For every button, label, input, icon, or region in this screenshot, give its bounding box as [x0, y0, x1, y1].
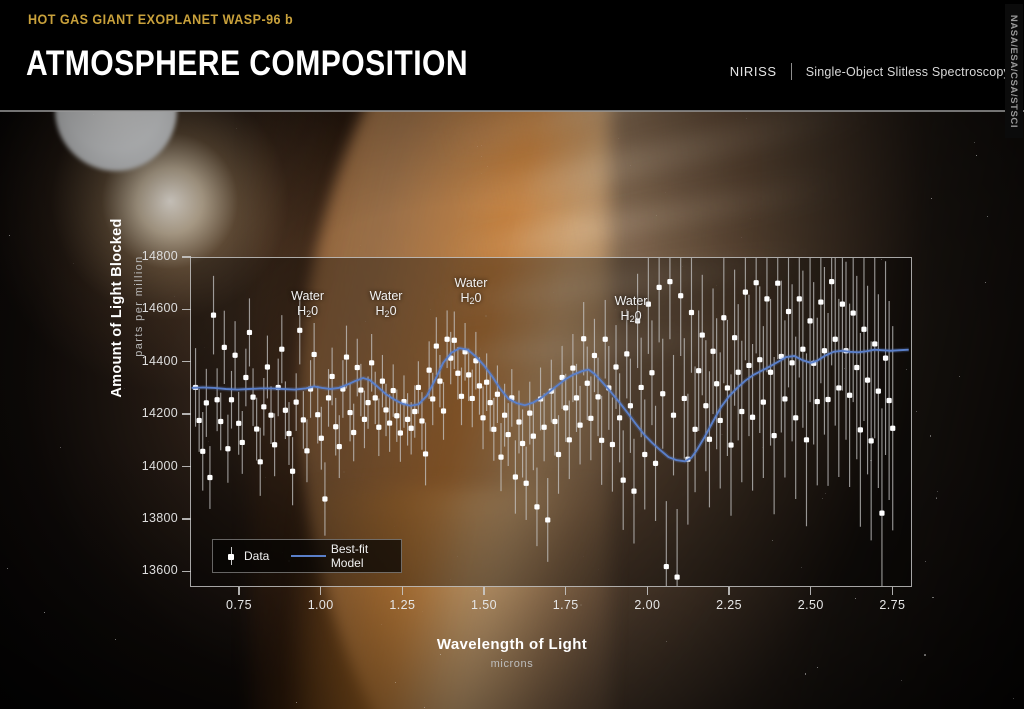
data-point — [470, 396, 475, 401]
data-point — [545, 517, 550, 522]
y-tick-mark — [182, 413, 191, 414]
data-point — [883, 355, 888, 360]
data-point — [441, 408, 446, 413]
data-point — [595, 394, 600, 399]
data-point — [574, 395, 579, 400]
data-point — [250, 395, 255, 400]
annotation-water: WaterH20 — [426, 276, 516, 309]
data-point — [782, 396, 787, 401]
data-point — [232, 353, 237, 358]
data-point — [312, 352, 317, 357]
data-point — [261, 404, 266, 409]
data-point — [477, 383, 482, 388]
annotation-formula: H20 — [426, 291, 516, 309]
data-point — [610, 442, 615, 447]
y-tick-label: 14000 — [132, 459, 178, 473]
data-point — [488, 400, 493, 405]
x-tick-label: 0.75 — [214, 598, 264, 612]
data-point — [355, 365, 360, 370]
data-point — [204, 400, 209, 405]
data-point — [772, 433, 777, 438]
data-point — [707, 437, 712, 442]
data-point — [790, 360, 795, 365]
data-point — [416, 385, 421, 390]
data-point — [667, 279, 672, 284]
data-point — [678, 293, 683, 298]
data-point — [337, 444, 342, 449]
data-point — [243, 375, 248, 380]
data-point — [797, 296, 802, 301]
data-point — [703, 403, 708, 408]
data-point — [498, 454, 503, 459]
x-tick-label: 1.50 — [459, 598, 509, 612]
data-point — [642, 452, 647, 457]
data-point — [358, 387, 363, 392]
header-bar: HOT GAS GIANT EXOPLANET WASP-96 b ATMOSP… — [0, 0, 1024, 111]
data-point — [671, 413, 676, 418]
x-tick-mark — [810, 587, 811, 595]
data-point — [254, 426, 259, 431]
data-point — [710, 349, 715, 354]
data-point — [297, 328, 302, 333]
chart-legend[interactable]: Data Best-fit Model — [212, 539, 402, 573]
data-point-icon — [225, 547, 239, 565]
data-point — [398, 430, 403, 435]
data-point — [344, 354, 349, 359]
data-point — [430, 396, 435, 401]
data-point — [570, 365, 575, 370]
data-point — [854, 365, 859, 370]
annotation-label: Water — [586, 294, 676, 309]
x-tick-label: 2.25 — [704, 598, 754, 612]
x-tick-mark — [892, 587, 893, 595]
data-point — [754, 280, 759, 285]
data-point — [775, 281, 780, 286]
page-title: ATMOSPHERE COMPOSITION — [26, 46, 468, 81]
y-tick-mark — [182, 256, 191, 257]
data-point — [258, 459, 263, 464]
data-point — [800, 347, 805, 352]
annotation-label: Water — [263, 289, 353, 304]
x-tick-label: 1.25 — [377, 598, 427, 612]
data-point — [437, 379, 442, 384]
data-point — [480, 415, 485, 420]
data-point — [682, 396, 687, 401]
data-point — [211, 313, 216, 318]
data-point — [617, 415, 622, 420]
data-point — [631, 489, 636, 494]
data-point — [268, 413, 273, 418]
data-point — [675, 574, 680, 579]
data-point — [315, 412, 320, 417]
data-point — [218, 419, 223, 424]
data-point — [265, 364, 270, 369]
divider — [791, 63, 792, 80]
data-point — [552, 419, 557, 424]
infographic-root: Amount of Light Blocked parts per millio… — [0, 0, 1024, 709]
data-point — [240, 440, 245, 445]
data-point — [567, 437, 572, 442]
data-point — [764, 296, 769, 301]
data-point — [657, 285, 662, 290]
data-point — [207, 475, 212, 480]
x-tick-mark — [402, 587, 403, 595]
y-tick-label: 14800 — [132, 249, 178, 263]
instrument-info: NIRISS Single-Object Slitless Spectrosco… — [730, 63, 1010, 80]
data-point — [851, 310, 856, 315]
data-point — [757, 357, 762, 362]
data-point — [531, 434, 536, 439]
x-axis-units: microns — [0, 658, 1024, 670]
annotation-water: WaterH20 — [263, 289, 353, 322]
data-point — [649, 370, 654, 375]
data-point — [865, 377, 870, 382]
x-axis-title: Wavelength of Light — [0, 636, 1024, 653]
data-point — [387, 420, 392, 425]
data-point — [225, 446, 230, 451]
data-point — [613, 364, 618, 369]
instrument-name: NIRISS — [730, 64, 777, 79]
legend-label-model: Best-fit Model — [331, 542, 401, 570]
header-rule — [0, 110, 1024, 112]
data-point — [825, 397, 830, 402]
data-point — [869, 438, 874, 443]
x-tick-mark — [238, 587, 239, 595]
data-point — [534, 504, 539, 509]
data-point — [455, 371, 460, 376]
data-point — [750, 415, 755, 420]
data-point — [858, 427, 863, 432]
annotation-formula: H20 — [586, 309, 676, 327]
data-point — [229, 397, 234, 402]
data-point — [689, 310, 694, 315]
data-point — [423, 451, 428, 456]
data-point — [815, 399, 820, 404]
y-axis-title: Amount of Light Blocked — [109, 183, 125, 433]
data-point — [373, 395, 378, 400]
data-point — [362, 417, 367, 422]
data-point — [513, 474, 518, 479]
data-point — [664, 564, 669, 569]
data-point — [732, 335, 737, 340]
data-point — [412, 409, 417, 414]
data-point — [714, 381, 719, 386]
data-point — [577, 423, 582, 428]
data-point — [542, 425, 547, 430]
data-point — [484, 380, 489, 385]
data-point — [847, 393, 852, 398]
legend-label-data: Data — [244, 549, 269, 563]
data-point — [804, 437, 809, 442]
data-point — [840, 302, 845, 307]
x-tick-label: 2.00 — [622, 598, 672, 612]
y-tick-mark — [182, 571, 191, 572]
x-tick-label: 1.75 — [541, 598, 591, 612]
data-point — [383, 407, 388, 412]
data-point — [495, 392, 500, 397]
data-point — [376, 425, 381, 430]
data-point — [599, 438, 604, 443]
data-point — [333, 424, 338, 429]
data-point — [286, 431, 291, 436]
data-point — [326, 395, 331, 400]
data-point — [301, 417, 306, 422]
y-tick-label: 13800 — [132, 511, 178, 525]
y-tick-label: 14400 — [132, 354, 178, 368]
data-point — [621, 478, 626, 483]
data-point — [272, 442, 277, 447]
data-point — [588, 416, 593, 421]
data-point — [639, 385, 644, 390]
data-point — [322, 496, 327, 501]
data-point — [419, 418, 424, 423]
data-point — [739, 409, 744, 414]
data-point — [405, 417, 410, 422]
data-point — [516, 419, 521, 424]
data-point — [290, 469, 295, 474]
data-point — [394, 413, 399, 418]
data-point — [725, 385, 730, 390]
data-point — [822, 348, 827, 353]
data-point — [197, 418, 202, 423]
data-point — [786, 309, 791, 314]
data-point — [829, 279, 834, 284]
data-point — [887, 398, 892, 403]
data-point — [247, 330, 252, 335]
data-point — [585, 381, 590, 386]
annotation-label: Water — [341, 289, 431, 304]
data-point — [556, 452, 561, 457]
data-point — [304, 448, 309, 453]
data-point — [236, 421, 241, 426]
legend-item-data: Data — [213, 547, 269, 565]
data-point — [491, 427, 496, 432]
data-point — [369, 360, 374, 365]
instrument-mode: Single-Object Slitless Spectroscopy — [806, 65, 1010, 79]
data-point — [653, 461, 658, 466]
data-point — [347, 410, 352, 415]
data-point — [279, 347, 284, 352]
data-point — [581, 336, 586, 341]
x-tick-mark — [320, 587, 321, 595]
data-point — [736, 370, 741, 375]
data-point — [818, 299, 823, 304]
x-tick-label: 2.75 — [867, 598, 917, 612]
model-line-icon — [291, 555, 325, 557]
data-point — [603, 337, 608, 342]
data-point — [761, 399, 766, 404]
annotation-formula: H20 — [263, 304, 353, 322]
best-fit-model-line — [192, 348, 909, 461]
data-point — [890, 426, 895, 431]
credit-text: NASA/ESA/CSA/STSCI — [1009, 14, 1020, 127]
x-tick-label: 1.00 — [296, 598, 346, 612]
annotation-formula: H20 — [341, 304, 431, 322]
x-tick-mark — [647, 587, 648, 595]
y-tick-mark — [182, 466, 191, 467]
x-tick-mark — [483, 587, 484, 595]
data-point — [660, 391, 665, 396]
data-point — [721, 315, 726, 320]
data-point — [624, 351, 629, 356]
y-tick-mark — [182, 309, 191, 310]
data-point — [351, 430, 356, 435]
data-point — [807, 318, 812, 323]
data-point — [434, 343, 439, 348]
data-point — [592, 353, 597, 358]
data-point — [391, 388, 396, 393]
data-point — [872, 341, 877, 346]
data-point — [700, 332, 705, 337]
data-point — [743, 289, 748, 294]
data-point — [718, 418, 723, 423]
data-point — [520, 441, 525, 446]
x-tick-label: 2.50 — [786, 598, 836, 612]
data-point — [380, 379, 385, 384]
data-point — [879, 511, 884, 516]
data-point — [563, 405, 568, 410]
x-tick-mark — [728, 587, 729, 595]
legend-item-model: Best-fit Model — [269, 542, 401, 570]
data-point — [445, 337, 450, 342]
data-point — [628, 403, 633, 408]
data-point — [746, 363, 751, 368]
y-tick-mark — [182, 361, 191, 362]
model-line-glow — [192, 348, 909, 461]
data-point — [696, 368, 701, 373]
y-tick-label: 14200 — [132, 406, 178, 420]
kicker-text: HOT GAS GIANT EXOPLANET WASP-96 b — [28, 12, 293, 27]
data-point — [427, 368, 432, 373]
data-point — [409, 426, 414, 431]
data-point — [502, 413, 507, 418]
data-point — [861, 327, 866, 332]
data-series — [193, 198, 895, 645]
data-point — [330, 374, 335, 379]
y-tick-mark — [182, 518, 191, 519]
data-point — [793, 415, 798, 420]
data-point — [283, 408, 288, 413]
data-point — [728, 442, 733, 447]
y-tick-label: 13600 — [132, 563, 178, 577]
data-point — [836, 385, 841, 390]
data-point — [524, 481, 529, 486]
y-tick-label: 14600 — [132, 301, 178, 315]
data-point — [466, 372, 471, 377]
data-point — [222, 345, 227, 350]
annotation-water: WaterH20 — [586, 294, 676, 327]
data-point — [506, 432, 511, 437]
data-point — [294, 399, 299, 404]
data-point — [768, 370, 773, 375]
annotation-water: WaterH20 — [341, 289, 431, 322]
data-point — [215, 397, 220, 402]
image-credit: NASA/ESA/CSA/STSCI — [1005, 4, 1023, 138]
data-point — [876, 388, 881, 393]
data-point — [459, 394, 464, 399]
data-point — [200, 449, 205, 454]
data-point — [452, 338, 457, 343]
x-tick-mark — [565, 587, 566, 595]
annotation-label: Water — [426, 276, 516, 291]
data-point — [833, 337, 838, 342]
data-point — [319, 436, 324, 441]
data-point — [692, 427, 697, 432]
data-point — [365, 400, 370, 405]
data-point — [527, 410, 532, 415]
